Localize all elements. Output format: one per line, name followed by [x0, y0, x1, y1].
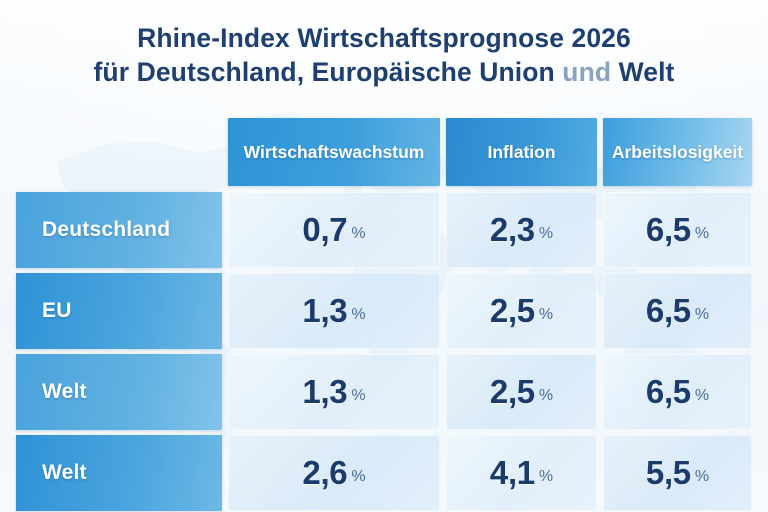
value-number: 2,5 — [490, 292, 535, 330]
value-number: 5,5 — [646, 454, 691, 492]
cell-deutschland-wirtschaftswachstum: 0,7 % — [228, 192, 440, 268]
percent-symbol: % — [539, 387, 553, 405]
value-number: 2,5 — [490, 373, 535, 411]
table-header-row: Wirtschaftswachstum Inflation Arbeitslos… — [16, 118, 752, 186]
cell-welt2-inflation: 4,1 % — [446, 435, 597, 511]
percent-symbol: % — [351, 306, 365, 324]
percent-symbol: % — [695, 387, 709, 405]
title-line-2: für Deutschland, Europäische Union und W… — [0, 56, 768, 90]
table-row: Welt 1,3 % 2,5 % 6,5 % — [16, 354, 752, 430]
percent-symbol: % — [351, 387, 365, 405]
cell-eu-wirtschaftswachstum: 1,3 % — [228, 273, 440, 349]
page-title: Rhine-Index Wirtschaftsprognose 2026 für… — [0, 22, 768, 90]
cell-welt2-wirtschaftswachstum: 2,6 % — [228, 435, 440, 511]
cell-eu-inflation: 2,5 % — [446, 273, 597, 349]
cell-welt1-inflation: 2,5 % — [446, 354, 597, 430]
title-line-2-part2: Welt — [611, 57, 674, 87]
cell-deutschland-arbeitslosigkeit: 6,5 % — [603, 192, 752, 268]
title-line-1: Rhine-Index Wirtschaftsprognose 2026 — [0, 22, 768, 56]
value-number: 0,7 — [302, 211, 347, 249]
table-corner-cell — [16, 118, 222, 186]
value-number: 6,5 — [646, 373, 691, 411]
percent-symbol: % — [695, 468, 709, 486]
column-header-arbeitslosigkeit[interactable]: Arbeitslosigkeit — [603, 118, 752, 186]
percent-symbol: % — [695, 306, 709, 324]
percent-symbol: % — [351, 468, 365, 486]
percent-symbol: % — [695, 225, 709, 243]
value-number: 4,1 — [490, 454, 535, 492]
table-row: Welt 2,6 % 4,1 % 5,5 % — [16, 435, 752, 511]
row-label-deutschland[interactable]: Deutschland — [16, 192, 222, 268]
table-row: Deutschland 0,7 % 2,3 % 6,5 % — [16, 192, 752, 268]
value-number: 6,5 — [646, 292, 691, 330]
percent-symbol: % — [539, 468, 553, 486]
value-number: 2,6 — [302, 454, 347, 492]
forecast-table: Wirtschaftswachstum Inflation Arbeitslos… — [16, 118, 752, 512]
row-label-welt-1[interactable]: Welt — [16, 354, 222, 430]
value-number: 2,3 — [490, 211, 535, 249]
column-header-inflation[interactable]: Inflation — [446, 118, 597, 186]
row-label-welt-2[interactable]: Welt — [16, 435, 222, 511]
cell-welt1-wirtschaftswachstum: 1,3 % — [228, 354, 440, 430]
value-number: 6,5 — [646, 211, 691, 249]
cell-deutschland-inflation: 2,3 % — [446, 192, 597, 268]
percent-symbol: % — [351, 225, 365, 243]
cell-welt2-arbeitslosigkeit: 5,5 % — [603, 435, 752, 511]
title-line-2-part1: für Deutschland, Europäische Union — [94, 57, 563, 87]
cell-eu-arbeitslosigkeit: 6,5 % — [603, 273, 752, 349]
row-label-eu[interactable]: EU — [16, 273, 222, 349]
table-row: EU 1,3 % 2,5 % 6,5 % — [16, 273, 752, 349]
percent-symbol: % — [539, 306, 553, 324]
column-header-wirtschaftswachstum[interactable]: Wirtschaftswachstum — [228, 118, 440, 186]
percent-symbol: % — [539, 225, 553, 243]
value-number: 1,3 — [302, 373, 347, 411]
value-number: 1,3 — [302, 292, 347, 330]
title-line-2-muted-word: und — [562, 57, 611, 87]
infographic-table-slide: Rhine-Index Wirtschaftsprognose 2026 für… — [0, 0, 768, 512]
cell-welt1-arbeitslosigkeit: 6,5 % — [603, 354, 752, 430]
